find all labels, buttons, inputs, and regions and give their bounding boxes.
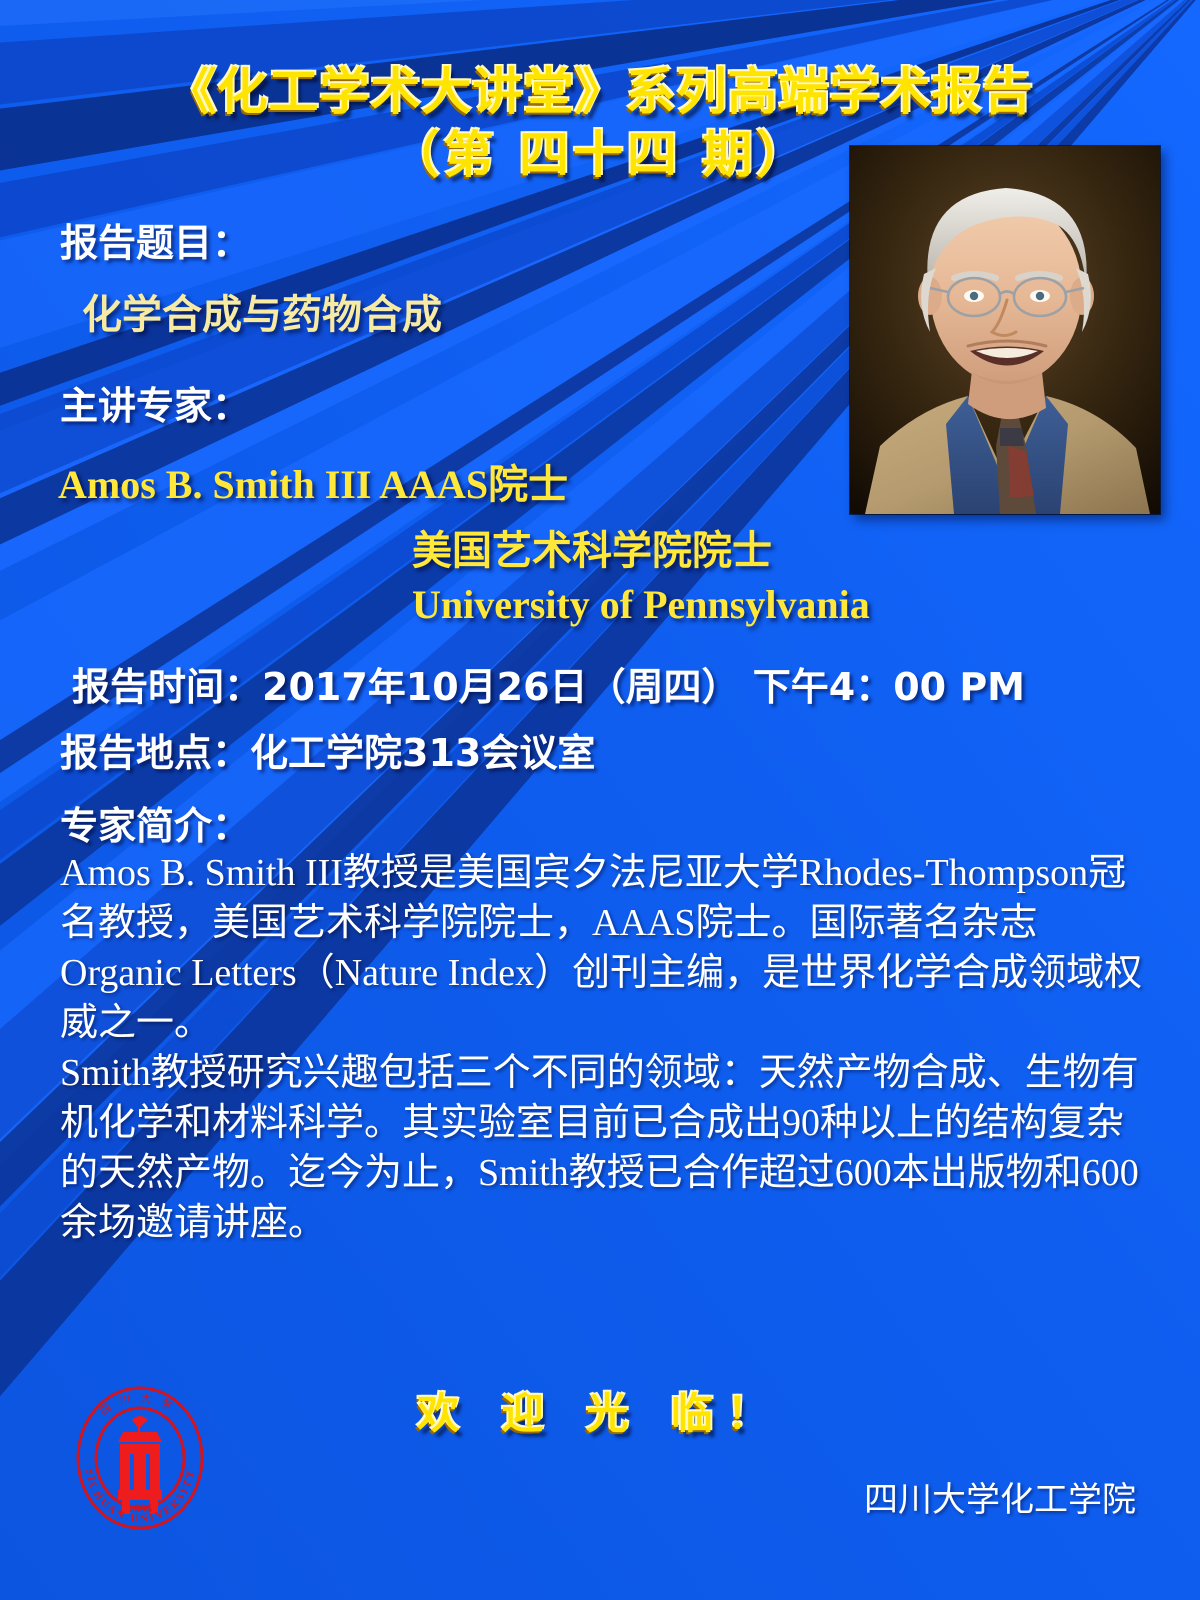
svg-text:四川大学: 四川大学	[98, 1390, 183, 1417]
value-time: 2017年10月26日（周四） 下午4：00 PM	[262, 665, 1025, 709]
label-speaker: 主讲专家：	[60, 375, 250, 430]
time-row: 报告时间：2017年10月26日（周四） 下午4：00 PM	[72, 656, 1025, 711]
bio-paragraph: Amos B. Smith III教授是美国宾夕法尼亚大学Rhodes-Thom…	[60, 848, 1158, 1048]
footer-organization: 四川大学化工学院	[864, 1472, 1136, 1521]
sichuan-university-logo: SICHUAN UNIVERSITY 四川大学 1896	[60, 1372, 220, 1544]
svg-text:1896: 1896	[128, 1501, 152, 1515]
label-time: 报告时间：	[72, 665, 262, 709]
poster-title-line-1: 《化工学术大讲堂》系列高端学术报告	[0, 52, 1200, 124]
place-row: 报告地点：化工学院313会议室	[60, 722, 595, 777]
seminar-poster: 《化工学术大讲堂》系列高端学术报告 （第 四十四 期）	[0, 0, 1200, 1600]
label-bio: 专家简介：	[60, 795, 250, 850]
speaker-name: Amos B. Smith III AAAS院士	[58, 452, 568, 510]
bio-block: Amos B. Smith III教授是美国宾夕法尼亚大学Rhodes-Thom…	[60, 848, 1158, 1248]
label-place: 报告地点：	[60, 731, 250, 775]
speaker-affiliation-en: University of Pennsylvania	[412, 581, 870, 628]
label-topic: 报告题目：	[60, 212, 250, 267]
value-topic: 化学合成与药物合成	[82, 282, 442, 340]
value-place: 化工学院313会议室	[250, 731, 595, 775]
bio-paragraph: Smith教授研究兴趣包括三个不同的领域：天然产物合成、生物有机化学和材料科学。…	[60, 1048, 1158, 1248]
speaker-affiliation-cn: 美国艺术科学院院士	[412, 518, 772, 576]
speaker-portrait	[850, 146, 1160, 514]
